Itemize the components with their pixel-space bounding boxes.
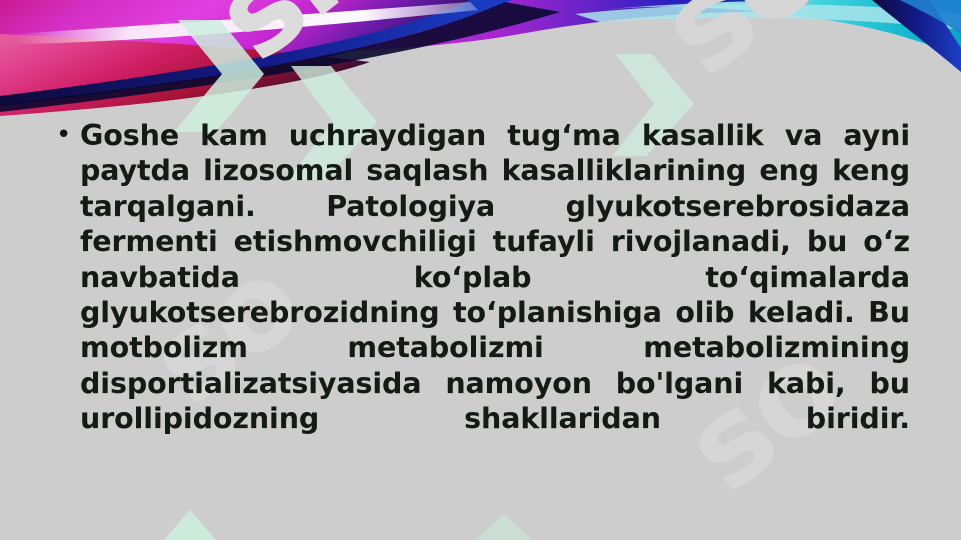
chevron-accent-icon-bottom-left: [160, 498, 270, 540]
bullet-list: Goshe kam uchraydigan tug‘ma kasallik va…: [54, 118, 910, 472]
chevron-accent-icon-top-left: [168, 0, 308, 132]
bullet-paragraph-text: Goshe kam uchraydigan tug‘ma kasallik va…: [80, 118, 910, 472]
slide-body-text: Goshe kam uchraydigan tug‘ma kasallik va…: [54, 118, 910, 472]
list-item: Goshe kam uchraydigan tug‘ma kasallik va…: [54, 118, 910, 472]
watermark-logo-upper-left: sl: [195, 0, 357, 80]
watermark-logo-upper-right: so: [640, 0, 845, 97]
presentation-slide: sl so so so Goshe kam uchraydigan tug‘ma…: [0, 0, 961, 540]
chevron-accent-icon-bottom-mid: [470, 510, 580, 540]
wave-banner-decoration: [0, 0, 961, 132]
